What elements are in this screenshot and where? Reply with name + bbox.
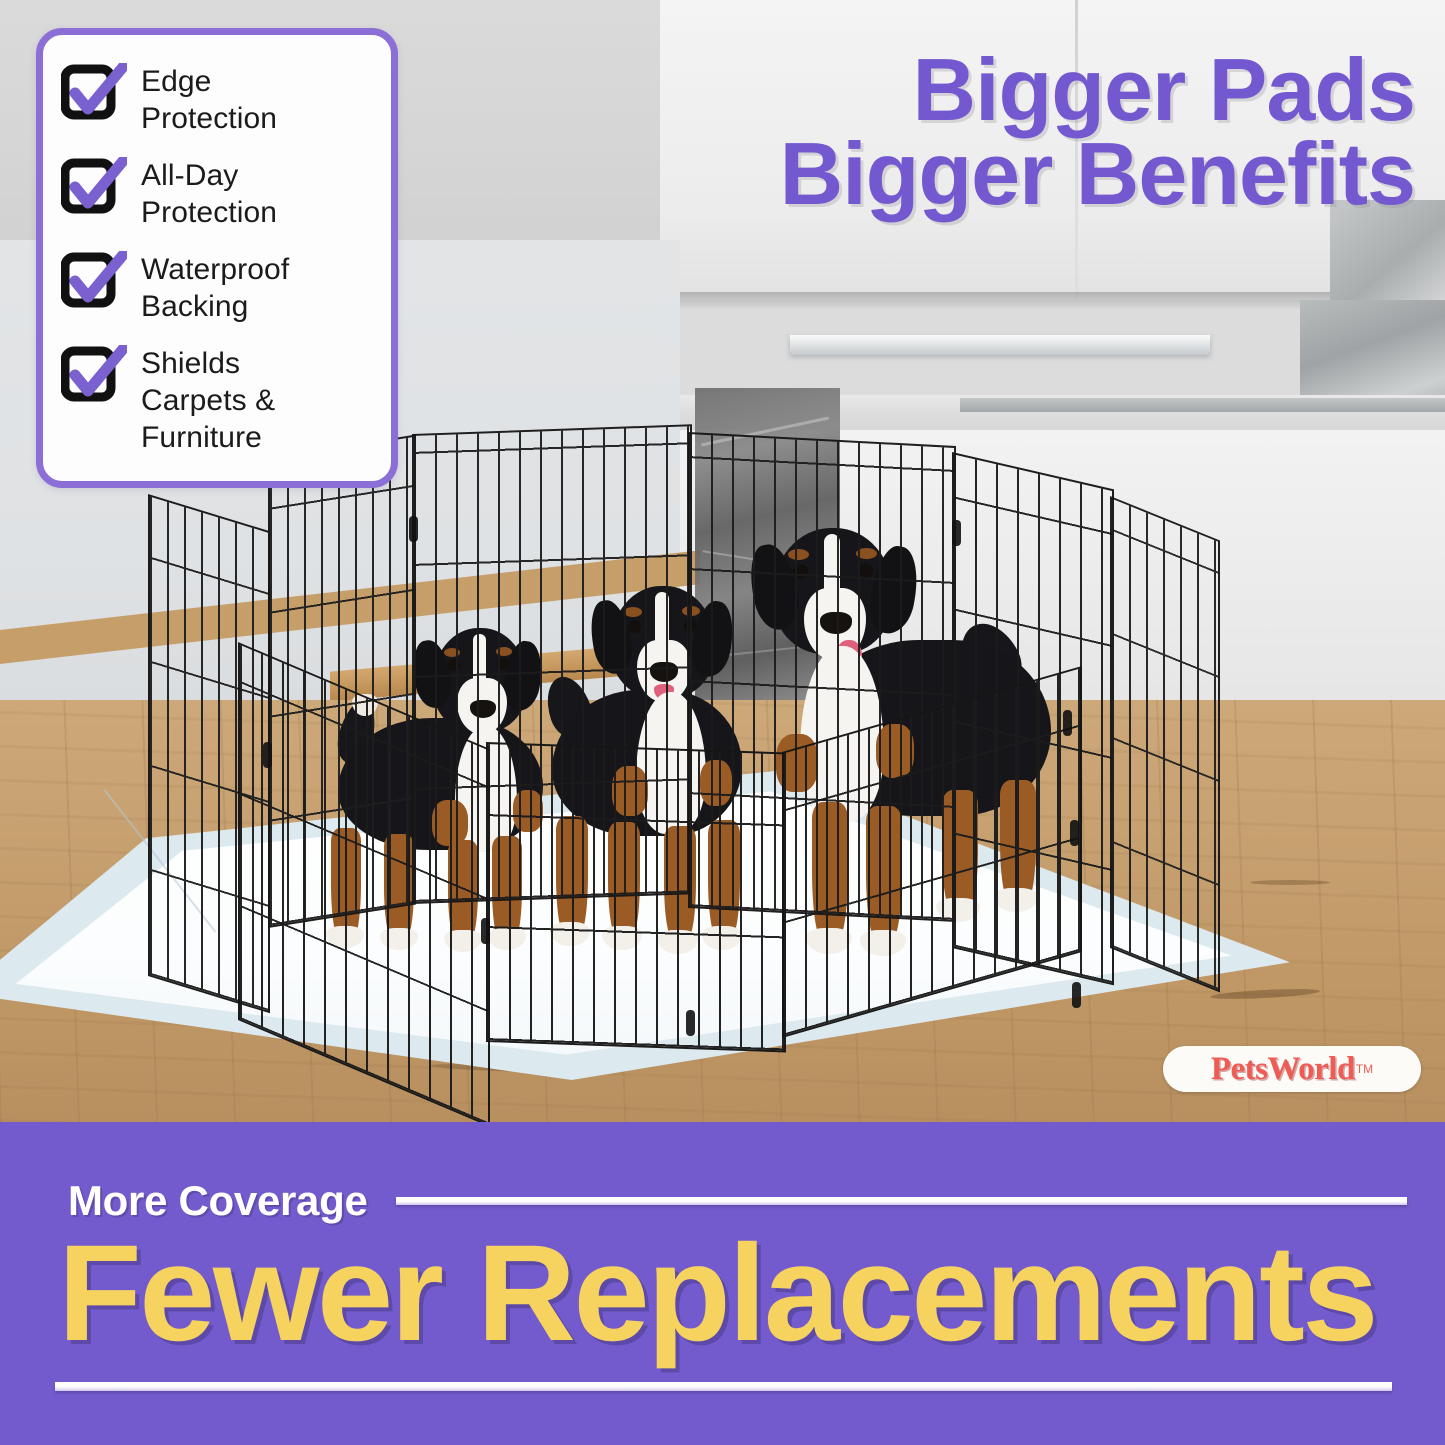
page-title: Bigger Pads Bigger Benefits <box>430 48 1415 216</box>
feature-item-waterproof-backing: Waterproof Backing <box>61 249 375 325</box>
playpen-hinge <box>409 516 418 542</box>
feature-label-line-2: Carpets & <box>141 384 275 417</box>
feature-list: Edge Protection All-Day Protection <box>43 35 391 456</box>
playpen-hinge <box>1063 710 1072 736</box>
feature-label-line-2: Backing <box>141 290 248 323</box>
playpen-panel <box>1110 496 1220 992</box>
playpen-hinge <box>1070 820 1079 846</box>
checkbox-check-icon <box>61 251 127 313</box>
trademark-symbol: TM <box>1356 1062 1373 1076</box>
feature-label-line-3: Furniture <box>141 421 262 454</box>
feature-label-line-1: Waterproof <box>141 253 289 286</box>
feature-label: All-Day Protection <box>141 155 277 231</box>
playpen-panel <box>486 742 786 1052</box>
feature-highlights-card: Edge Protection All-Day Protection <box>36 28 398 488</box>
playpen-hinge <box>263 742 272 768</box>
feature-label: Edge Protection <box>141 61 277 137</box>
feature-item-all-day-protection: All-Day Protection <box>61 155 375 231</box>
brand-logo: PetsWorldTM <box>1163 1046 1421 1092</box>
checkbox-check-icon <box>61 63 127 125</box>
headline-line-2: Bigger Benefits <box>430 132 1415 216</box>
feature-label-line-2: Protection <box>141 196 277 229</box>
feature-label-line-1: Shields <box>141 347 240 380</box>
playpen-hinge <box>952 520 961 546</box>
brand-name: PetsWorld <box>1211 1051 1355 1088</box>
banner-divider-top <box>396 1197 1407 1205</box>
headline-line-1: Bigger Pads <box>430 48 1415 132</box>
product-marketing-image: PetsWorldTM Bigger Pads Bigger Benefits … <box>0 0 1445 1445</box>
checkbox-check-icon <box>61 345 127 407</box>
banner-divider-bottom <box>55 1382 1392 1391</box>
banner-headline: Fewer Replacements <box>58 1230 1398 1358</box>
feature-label: Waterproof Backing <box>141 249 289 325</box>
feature-item-edge-protection: Edge Protection <box>61 61 375 137</box>
feature-item-shields-carpets-furniture: Shields Carpets & Furniture <box>61 343 375 456</box>
feature-label: Shields Carpets & Furniture <box>141 343 275 456</box>
feature-label-line-1: Edge <box>141 65 211 98</box>
feature-label-line-1: All-Day <box>141 159 238 192</box>
playpen-hinge <box>481 918 490 944</box>
checkbox-check-icon <box>61 157 127 219</box>
playpen-hinge <box>686 1010 695 1036</box>
feature-label-line-2: Protection <box>141 102 277 135</box>
playpen-hinge <box>1072 982 1081 1008</box>
